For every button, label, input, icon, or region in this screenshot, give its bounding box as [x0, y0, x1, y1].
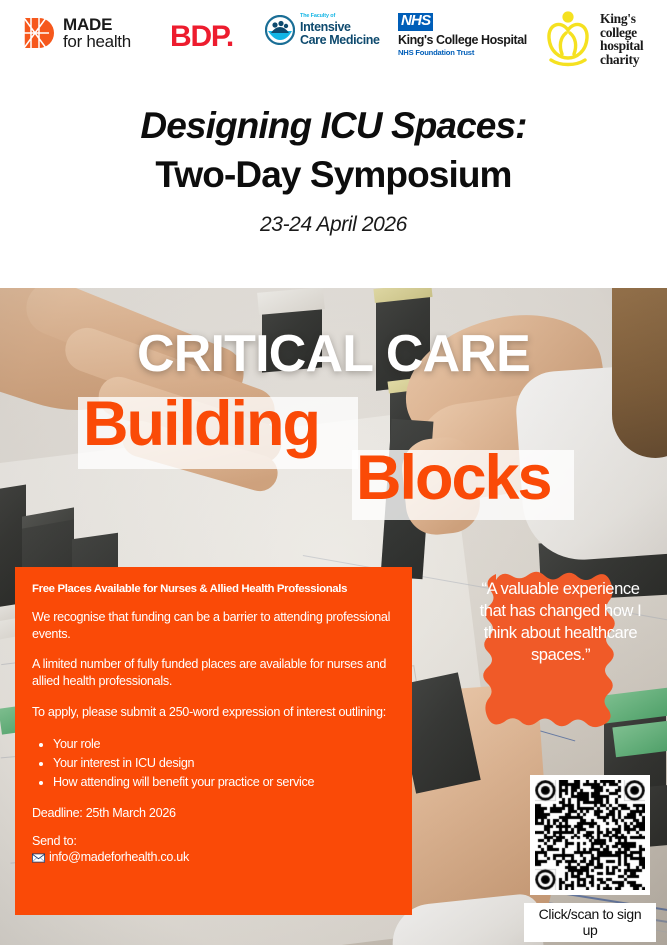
partner-logo-bar: MADE for health BDP. The Faculty o [0, 0, 667, 86]
logo-bdp-wordmark: BDP. [170, 20, 233, 54]
signup-qr-group[interactable]: Click/scan to sign up [530, 775, 656, 942]
logo-made-wordmark: MADE for health [63, 16, 131, 51]
envelope-icon [32, 852, 45, 862]
application-requirements-list: Your role Your interest in ICU design Ho… [32, 735, 395, 792]
qr-code-icon[interactable] [530, 775, 650, 895]
info-panel-heading: Free Places Available for Nurses & Allie… [32, 583, 395, 595]
free-places-info-panel: Free Places Available for Nurses & Allie… [15, 567, 412, 915]
poster-canvas: CRITICAL CARE Building Blocks Free Place… [0, 0, 667, 945]
testimonial-quote-blob: “A valuable experience that has changed … [472, 566, 649, 762]
logo-kch-line2: college [600, 26, 643, 40]
logo-kch-wordmark: King's college hospital charity [600, 12, 643, 66]
contact-email-row[interactable]: info@madeforhealth.co.uk [32, 850, 395, 864]
logo-made-line2: for health [63, 33, 131, 50]
logo-ficm-line1: Intensive [300, 21, 380, 34]
info-paragraph-2: A limited number of fully funded places … [32, 656, 395, 689]
logo-ficm-small: The Faculty of [300, 14, 380, 20]
send-to-label: Send to: [32, 834, 395, 848]
logo-made-line1: MADE [63, 16, 131, 33]
qr-caption: Click/scan to sign up [524, 903, 656, 942]
info-paragraph-3: To apply, please submit a 250-word expre… [32, 704, 395, 721]
ficm-people-in-hand-icon [265, 15, 295, 45]
logo-kch-line4: charity [600, 53, 643, 67]
title-block: Designing ICU Spaces: Two-Day Symposium … [0, 86, 667, 288]
page-title-line2: Two-Day Symposium [0, 154, 667, 197]
nhs-badge-icon: NHS [398, 13, 433, 31]
logo-nhs-kings-college-hospital: NHS King's College Hospital NHS Foundati… [398, 12, 527, 57]
logo-made-for-health: MADE for health [22, 16, 131, 51]
logo-nhs-trust-type: NHS Foundation Trust [398, 48, 527, 57]
headline-building: Building [83, 393, 319, 456]
logo-ficm-wordmark: The Faculty of Intensive Care Medicine [300, 14, 380, 47]
list-item: Your interest in ICU design [53, 754, 395, 773]
kch-crown-icon [542, 8, 594, 70]
event-date: 23-24 April 2026 [0, 213, 667, 237]
headline-blocks: Blocks [356, 447, 551, 510]
logo-faculty-intensive-care-medicine: The Faculty of Intensive Care Medicine [265, 14, 380, 47]
info-paragraph-1: We recognise that funding can be a barri… [32, 609, 395, 642]
headline-critical-care: CRITICAL CARE [0, 324, 667, 384]
logo-nhs-trust-name: King's College Hospital [398, 33, 527, 47]
page-title-line1: Designing ICU Spaces: [0, 105, 667, 148]
made-geodesic-icon [22, 16, 56, 50]
logo-bdp: BDP. [170, 20, 233, 54]
contact-email-text: info@madeforhealth.co.uk [49, 850, 189, 864]
testimonial-quote-text: “A valuable experience that has changed … [472, 578, 649, 666]
logo-kch-line1: King's [600, 12, 643, 26]
logo-kings-college-hospital-charity: King's college hospital charity [542, 8, 643, 70]
list-item: How attending will benefit your practice… [53, 773, 395, 792]
logo-kch-line3: hospital [600, 39, 643, 53]
logo-ficm-line2: Care Medicine [300, 34, 380, 47]
list-item: Your role [53, 735, 395, 754]
deadline-text: Deadline: 25th March 2026 [32, 806, 395, 820]
